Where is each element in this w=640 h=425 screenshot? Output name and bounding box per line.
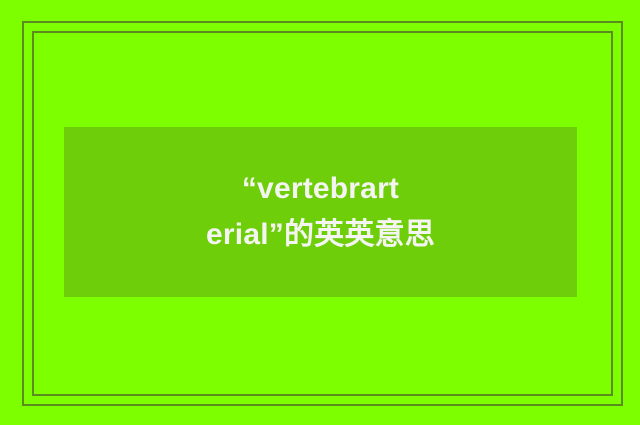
banner-canvas: “vertebrart erial”的英英意思 [0,0,640,425]
banner-title-line-2: erial”的英英意思 [171,213,471,257]
content-panel: “vertebrart erial”的英英意思 [64,127,577,297]
banner-title-line-1: “vertebrart [171,167,471,211]
banner-title: “vertebrart erial”的英英意思 [171,167,471,258]
